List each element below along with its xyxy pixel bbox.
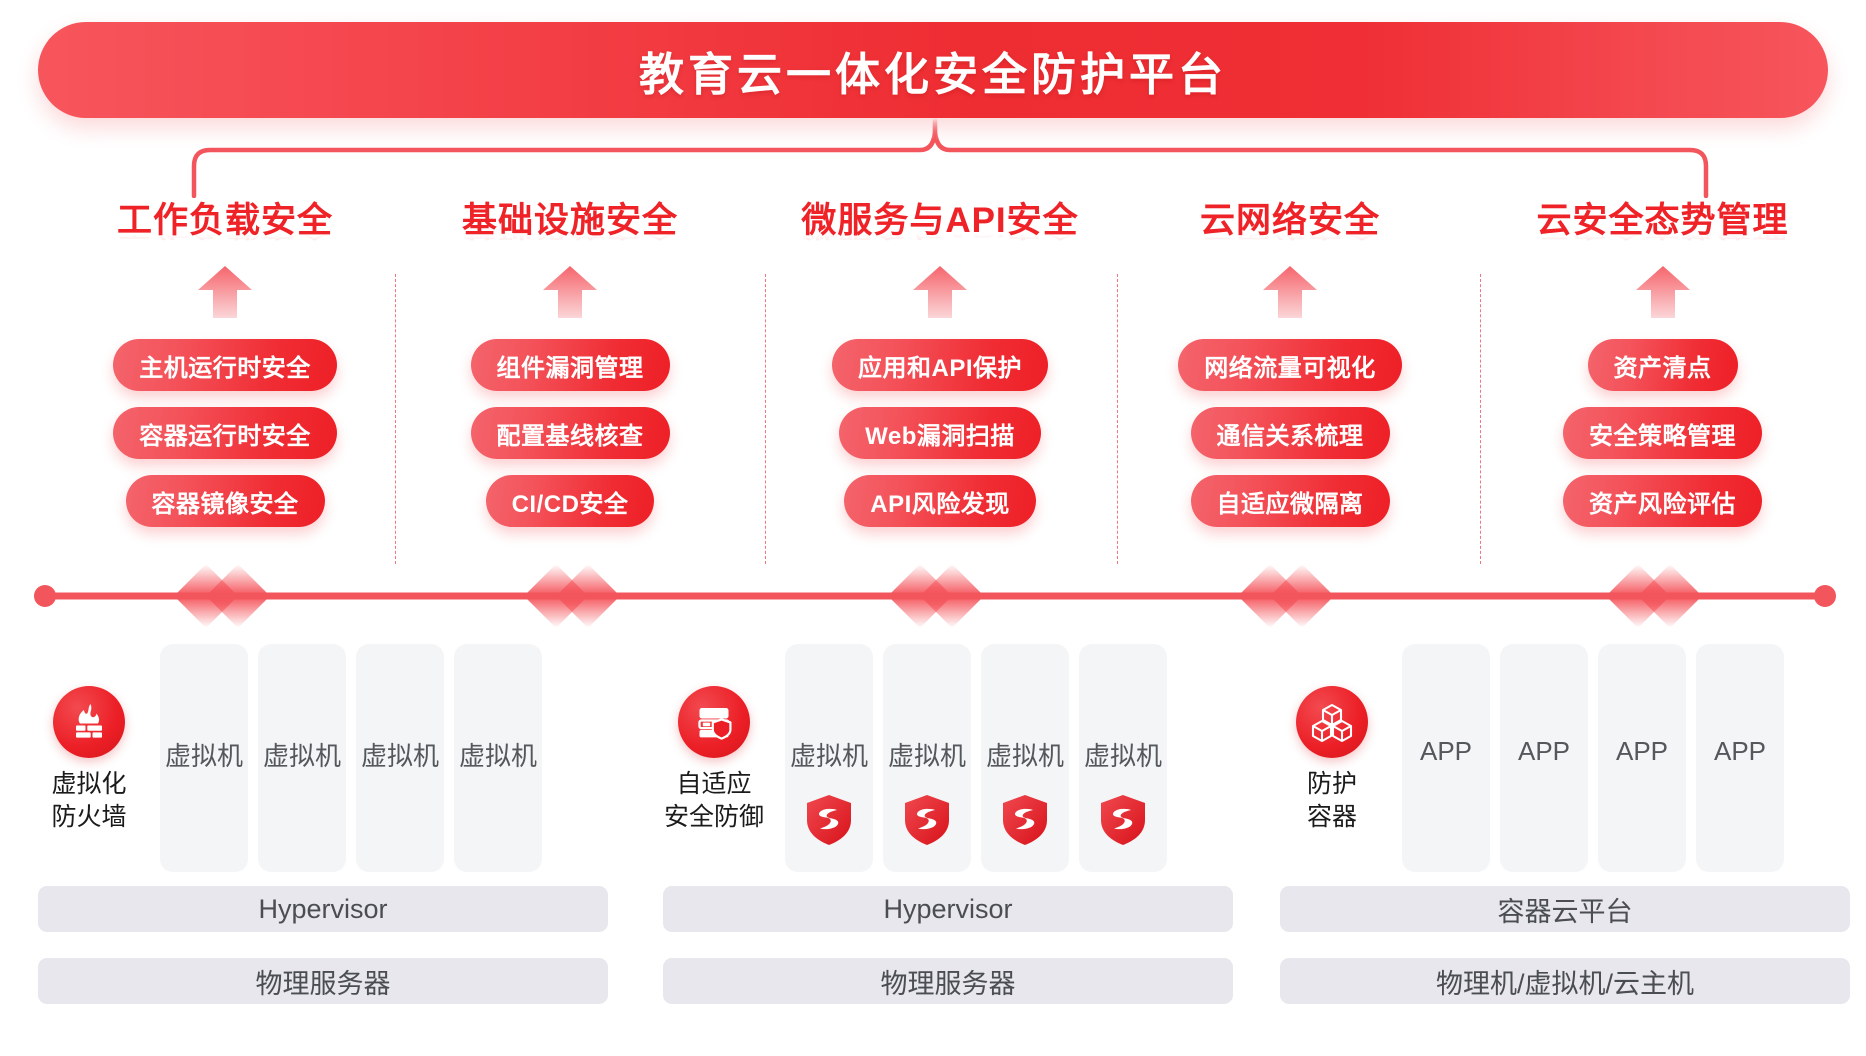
vm-card-row: 虚拟机 虚拟机 虚拟机 虚拟机 [160,644,542,872]
up-arrow-icon [194,266,256,323]
column-cloud-network-security[interactable]: 云网络安全 云网络安全 网络流量可视化 通信关系梳理 自适应微隔离 [1120,196,1460,566]
chip-list: 资产清点 安全策略管理 资产风险评估 [1563,339,1762,527]
vm-card[interactable]: 虚拟机 [981,644,1069,872]
chip-list: 主机运行时安全 容器运行时安全 容器镜像安全 [113,339,337,527]
up-arrow-icon [1259,266,1321,323]
platform-bar: Hypervisor [38,886,608,932]
rail-end-dot [1814,585,1836,607]
vm-card-label: 虚拟机 [883,736,971,773]
capability-chip[interactable]: 容器镜像安全 [126,475,325,527]
infrastructure-layer: 虚拟化 防火墙 虚拟机 虚拟机 虚拟机 虚拟机 Hypervisor [0,636,1866,1056]
column-microservice-api-security[interactable]: 微服务与API安全 微服务与API安全 应用和API保护 Web漏洞扫描 API… [765,196,1115,566]
column-divider-1 [395,274,396,564]
up-arrow-icon [539,266,601,323]
firewall-label: 虚拟化 防火墙 [51,768,126,834]
app-card-label: APP [1598,736,1686,767]
firewall-icon-block[interactable]: 虚拟化 防火墙 [38,686,140,834]
diagram-canvas: 教育云一体化安全防护平台 工作负载安全 工作负载安全 [0,0,1866,1056]
platform-rail [0,560,1866,632]
adaptive-label-line2: 安全防御 [664,803,764,831]
vm-card-label: 虚拟机 [258,736,346,773]
capability-chip[interactable]: 主机运行时安全 [113,339,337,391]
vm-card[interactable]: 虚拟机 [883,644,971,872]
app-card-label: APP [1500,736,1588,767]
container-icon-block[interactable]: 防护 容器 [1284,686,1380,834]
capability-columns: 工作负载安全 工作负载安全 主机运行时安全 容器运行时安全 容器镜像安全 基础设… [0,196,1866,566]
vm-card[interactable]: 虚拟机 [258,644,346,872]
column-heading-reflection: 云网络安全 [1200,234,1380,242]
column-divider-4 [1480,274,1481,564]
vm-card[interactable]: 虚拟机 [1079,644,1167,872]
vm-card-label: 虚拟机 [1079,736,1167,773]
vm-card[interactable]: 虚拟机 [785,644,873,872]
platform-bar: 容器云平台 [1280,886,1850,932]
container-label-line1: 防护 [1307,770,1357,798]
capability-chip[interactable]: 通信关系梳理 [1191,407,1390,459]
app-card[interactable]: APP [1500,644,1588,872]
vm-card[interactable]: 虚拟机 [356,644,444,872]
vm-card-label: 虚拟机 [356,736,444,773]
up-arrow-icon [909,266,971,323]
capability-chip[interactable]: 容器运行时安全 [113,407,337,459]
column-divider-3 [1117,274,1118,564]
firewall-label-line1: 虚拟化 [51,770,126,798]
vm-card[interactable]: 虚拟机 [454,644,542,872]
vm-card-label: 虚拟机 [981,736,1069,773]
column-cloud-security-posture[interactable]: 云安全态势管理 云安全态势管理 资产清点 安全策略管理 资产风险评估 [1485,196,1840,566]
hardware-bar: 物理服务器 [663,958,1233,1004]
platform-title-bar: 教育云一体化安全防护平台 [38,22,1828,118]
container-label: 防护 容器 [1307,768,1357,834]
app-card[interactable]: APP [1402,644,1490,872]
capability-chip[interactable]: 自适应微隔离 [1191,475,1390,527]
vm-card-label: 虚拟机 [454,736,542,773]
adaptive-defense-icon-block[interactable]: 自适应 安全防御 [655,686,773,834]
column-heading-reflection: 工作负载安全 [117,234,333,242]
firewall-label-line2: 防火墙 [51,803,126,831]
vm-card-label: 虚拟机 [785,736,873,773]
capability-chip[interactable]: 安全策略管理 [1563,407,1762,459]
brace-connector [150,118,1750,198]
container-cubes-icon [1296,686,1368,758]
app-card-label: APP [1402,736,1490,767]
column-workload-security[interactable]: 工作负载安全 工作负载安全 主机运行时安全 容器运行时安全 容器镜像安全 [55,196,395,566]
app-card[interactable]: APP [1696,644,1784,872]
container-label-line2: 容器 [1307,803,1357,831]
protection-shield-icon [1100,794,1146,851]
adaptive-label-line1: 自适应 [676,770,751,798]
chip-list: 组件漏洞管理 配置基线核查 CI/CD安全 [471,339,670,527]
capability-chip[interactable]: Web漏洞扫描 [839,407,1041,459]
column-heading-reflection: 微服务与API安全 [801,234,1078,242]
capability-chip[interactable]: 组件漏洞管理 [471,339,670,391]
up-arrow-icon [1632,266,1694,323]
column-heading-reflection: 云安全态势管理 [1536,234,1788,242]
chip-list: 网络流量可视化 通信关系梳理 自适应微隔离 [1178,339,1402,527]
protection-shield-icon [904,794,950,851]
vm-card-label: 虚拟机 [160,736,248,773]
capability-chip[interactable]: CI/CD安全 [486,475,655,527]
page-title: 教育云一体化安全防护平台 [639,38,1227,103]
capability-chip[interactable]: 配置基线核查 [471,407,670,459]
app-card[interactable]: APP [1598,644,1686,872]
capability-chip[interactable]: 应用和API保护 [832,339,1048,391]
vm-card-row: 虚拟机 虚拟机 [785,644,1167,872]
app-card-label: APP [1696,736,1784,767]
app-card-row: APP APP APP APP [1402,644,1784,872]
adaptive-defense-label: 自适应 安全防御 [664,768,764,834]
capability-chip[interactable]: 网络流量可视化 [1178,339,1402,391]
capability-chip[interactable]: 资产清点 [1588,339,1738,391]
protection-shield-icon [1002,794,1048,851]
column-heading-reflection: 基础设施安全 [462,234,678,242]
adaptive-defense-icon [678,686,750,758]
column-infrastructure-security[interactable]: 基础设施安全 基础设施安全 组件漏洞管理 配置基线核查 CI/CD安全 [400,196,740,566]
vm-card[interactable]: 虚拟机 [160,644,248,872]
protection-shield-icon [806,794,852,851]
firewall-icon [53,686,125,758]
platform-bar: Hypervisor [663,886,1233,932]
capability-chip[interactable]: 资产风险评估 [1563,475,1762,527]
chip-list: 应用和API保护 Web漏洞扫描 API风险发现 [832,339,1048,527]
hardware-bar: 物理服务器 [38,958,608,1004]
capability-chip[interactable]: API风险发现 [844,475,1036,527]
hardware-bar: 物理机/虚拟机/云主机 [1280,958,1850,1004]
rail-end-dot [34,585,56,607]
